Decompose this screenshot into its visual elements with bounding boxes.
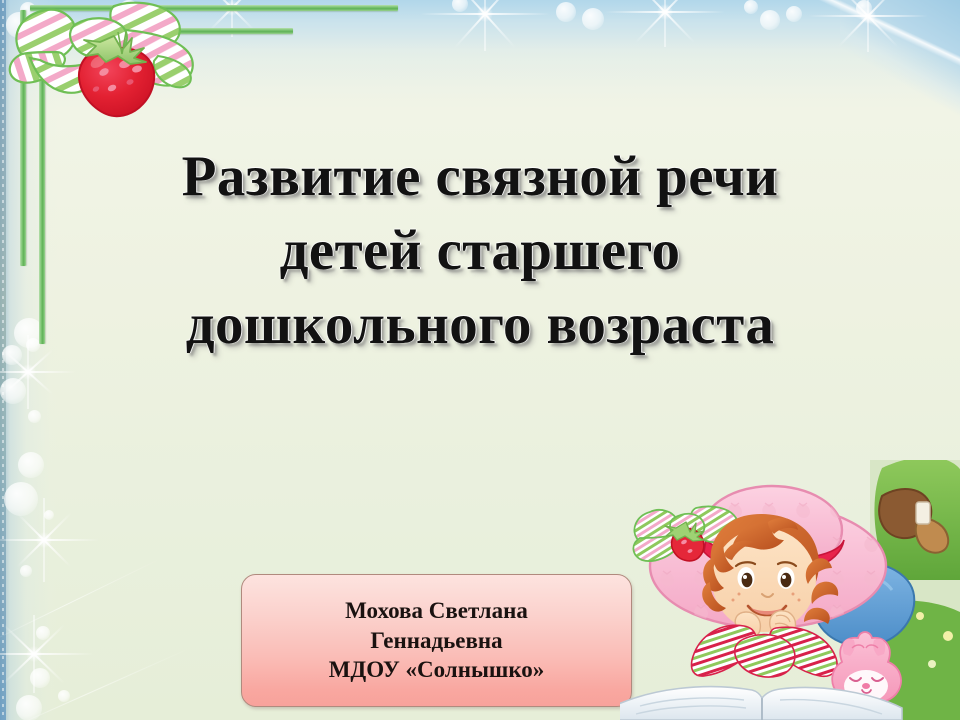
- light-streak: [0, 647, 191, 720]
- presentation-slide: Развитие связной речи детей старшего дош…: [0, 0, 960, 720]
- strawberry-shortcake-illustration: [620, 460, 960, 720]
- ribbon-bow-strawberry-decoration: [6, 0, 221, 131]
- bokeh-circle: [2, 345, 22, 365]
- title-line-1: Развитие связной речи: [60, 140, 900, 214]
- title-line-2: детей старшего: [60, 214, 900, 288]
- bokeh-circle: [36, 626, 50, 640]
- bokeh-circle: [856, 0, 872, 16]
- bokeh-circle: [556, 2, 576, 22]
- author-name-line-1: Мохова Светлана: [345, 596, 528, 626]
- author-name-line-2: Геннадьевна: [370, 626, 502, 656]
- bokeh-circle: [16, 695, 42, 720]
- bokeh-circle: [786, 6, 802, 22]
- bokeh-circle: [44, 510, 54, 520]
- title-line-3: дошкольного возраста: [60, 288, 900, 362]
- bokeh-circle: [760, 10, 780, 30]
- bokeh-circle: [20, 565, 32, 577]
- author-info-box: Мохова Светлана Геннадьевна МДОУ «Солныш…: [241, 574, 632, 707]
- bokeh-circle: [28, 410, 41, 423]
- girl-reading-book-icon: [620, 460, 960, 720]
- ribbon-bow-icon: [6, 0, 221, 131]
- bokeh-circle: [18, 452, 44, 478]
- top-right-corner-highlight: [800, 0, 960, 90]
- bokeh-circle: [30, 668, 50, 688]
- bokeh-circle: [452, 0, 468, 12]
- top-right-blue-corner: [840, 0, 960, 120]
- bokeh-circle: [58, 690, 70, 702]
- bokeh-circle: [0, 378, 26, 404]
- bokeh-circle: [26, 338, 40, 352]
- slide-title: Развитие связной речи детей старшего дош…: [60, 140, 900, 362]
- organization-line: МДОУ «Солнышко»: [329, 655, 545, 685]
- light-streak: [0, 558, 161, 643]
- bokeh-circle: [4, 482, 38, 516]
- bokeh-circle: [744, 0, 758, 14]
- bokeh-circle: [582, 8, 604, 30]
